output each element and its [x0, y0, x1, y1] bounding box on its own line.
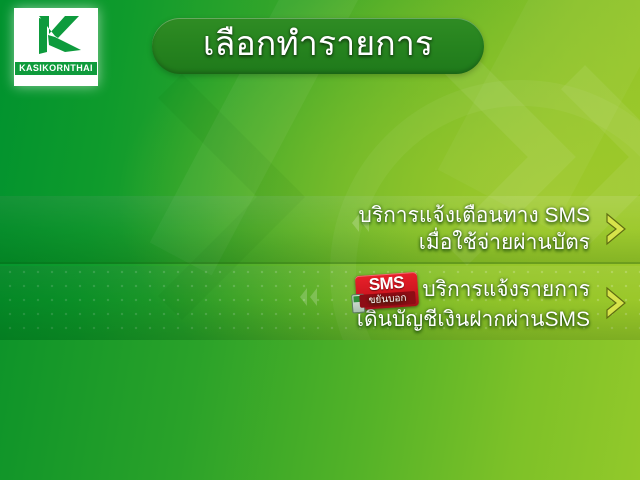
menu-item-line1: บริการแจ้งรายการ	[422, 276, 590, 303]
menu-item-line2: เดินบัญชีเงินฝากผ่านSMS	[356, 306, 590, 333]
bottom-background	[0, 340, 640, 480]
page-title-banner: เลือกทำรายการ	[152, 18, 484, 74]
menu-item-line2: เมื่อใช้จ่ายผ่านบัตร	[358, 229, 590, 256]
menu-item-sms-card-spending-alert[interactable]: บริการแจ้งเตือนทาง SMS เมื่อใช้จ่ายผ่านบ…	[0, 196, 640, 262]
sms-khayanbok-badge: SMS ขยันบอก	[355, 271, 419, 309]
menu-item-line1-row: SMS ขยันบอก บริการแจ้งรายการ	[356, 274, 590, 306]
chevron-right-icon[interactable]	[596, 212, 640, 246]
menu-item-sms-deposit-statement[interactable]: SMS ขยันบอก บริการแจ้งรายการ เดินบัญชีเง…	[0, 266, 640, 340]
atm-screen: KASIKORNTHAI เลือกทำรายการ บริการแจ้งเตื…	[0, 0, 640, 480]
menu-item-label: SMS ขยันบอก บริการแจ้งรายการ เดินบัญชีเง…	[356, 274, 590, 333]
page-title: เลือกทำรายการ	[203, 27, 433, 65]
k-mark-icon	[25, 12, 87, 60]
menu-item-label: บริการแจ้งเตือนทาง SMS เมื่อใช้จ่ายผ่านบ…	[358, 202, 590, 256]
menu-item-line1: บริการแจ้งเตือนทาง SMS	[358, 202, 590, 229]
row-decor-chevrons	[300, 288, 317, 306]
row-separator-top	[0, 262, 640, 264]
logo-wordmark: KASIKORNTHAI	[15, 62, 97, 75]
chevron-right-icon[interactable]	[596, 286, 640, 320]
kasikornthai-logo: KASIKORNTHAI	[14, 8, 98, 86]
